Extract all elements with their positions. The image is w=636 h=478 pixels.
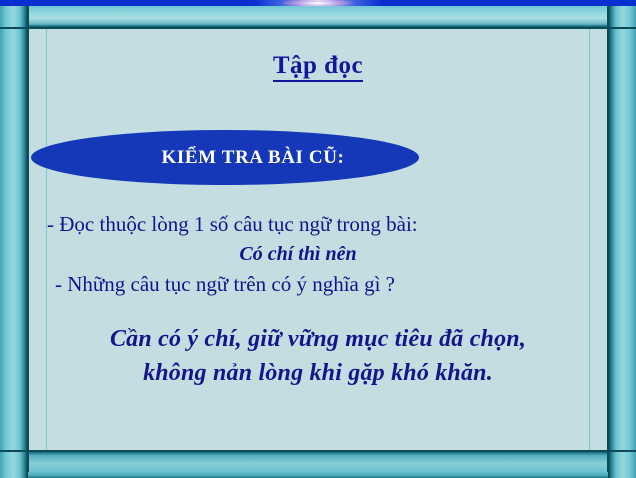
frame-rule-right: [607, 6, 609, 472]
frame-rule-top: [0, 27, 636, 29]
question-block: - Đọc thuộc lòng 1 số câu tục ngữ trong …: [47, 210, 589, 299]
banner-label: KIỂM TRA BÀI CŨ:: [31, 130, 419, 185]
frame-band-left: [0, 0, 28, 478]
frame-hairline-right: [589, 29, 590, 450]
slide-title-text: Tập đọc: [273, 52, 363, 82]
slide-title: Tập đọc: [47, 52, 589, 80]
frame-band-bottom: [0, 450, 636, 478]
question-line-1: - Đọc thuộc lòng 1 số câu tục ngữ trong …: [47, 210, 589, 239]
answer-line-2: không nản lòng khi gặp khó khăn.: [47, 356, 589, 390]
answer-block: Cần có ý chí, giữ vững mục tiêu đã chọn,…: [47, 322, 589, 390]
frame-rule-left: [27, 6, 29, 472]
frame-band-right: [608, 0, 636, 478]
banner-ellipse: KIỂM TRA BÀI CŨ:: [31, 130, 419, 185]
frame-rule-bottom: [0, 450, 636, 452]
slide-content-plate: Tập đọc KIỂM TRA BÀI CŨ: - Đọc thuộc lòn…: [47, 30, 589, 450]
question-line-2: - Những câu tục ngữ trên có ý nghĩa gì ?: [47, 269, 589, 299]
top-accent-glow: [283, 0, 353, 7]
presentation-slide: Tập đọc KIỂM TRA BÀI CŨ: - Đọc thuộc lòn…: [0, 0, 636, 478]
frame-band-top: [0, 6, 636, 28]
answer-line-1: Cần có ý chí, giữ vững mục tiêu đã chọn,: [47, 322, 589, 356]
proverb-title: Có chí thì nên: [47, 239, 589, 269]
